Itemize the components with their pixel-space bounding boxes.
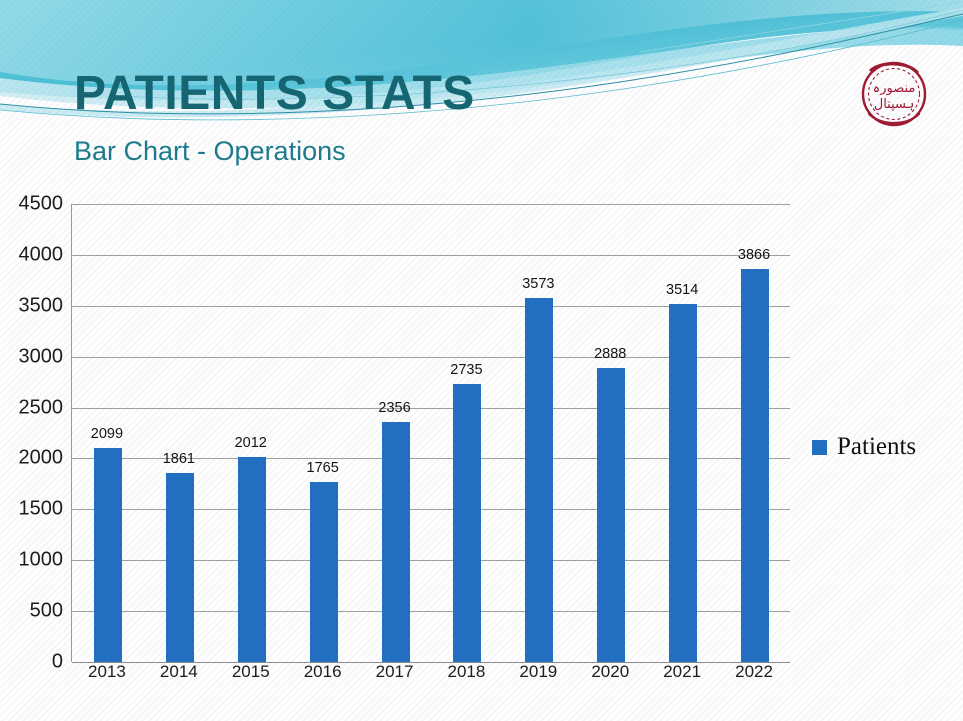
x-axis-tick-label-2016: 2016 [288,662,358,682]
y-axis-tick-label: 2500 [1,396,63,419]
bar-value-label-2020: 2888 [575,346,645,362]
bar-value-label-2015: 2012 [216,435,286,451]
y-axis-tick-label: 4000 [1,243,63,266]
x-axis-tick-label-2013: 2013 [72,662,142,682]
y-axis-tick-label: 0 [1,651,63,674]
y-axis-tick-label: 1000 [1,549,63,572]
logo-text-line2: ہسپتال [874,97,914,112]
bar-value-label-2014: 1861 [144,451,214,467]
y-axis: 050010001500200025003000350040004500 [0,204,63,662]
bar-2021[interactable] [669,304,697,662]
x-axis-tick-label-2021: 2021 [647,662,717,682]
bar-chart: 050010001500200025003000350040004500 Pat… [0,190,963,710]
x-axis-tick-label-2015: 2015 [216,662,286,682]
y-axis-tick-label: 3000 [1,345,63,368]
logo-text-line1: منصورہ [873,81,916,96]
chart-legend: Patients [812,433,916,461]
y-axis-tick-label: 2000 [1,447,63,470]
bar-value-label-2017: 2356 [360,400,430,416]
y-axis-tick-label: 1500 [1,498,63,521]
bar-2018[interactable] [453,384,481,662]
x-axis-tick-label-2014: 2014 [144,662,214,682]
legend-swatch-patients [812,440,827,455]
bar-value-label-2022: 3866 [719,247,789,263]
page-subtitle: Bar Chart - Operations [74,136,346,167]
y-axis-tick-label: 4500 [1,193,63,216]
plot-area [71,204,790,662]
bar-value-label-2016: 1765 [288,460,358,476]
x-axis-tick-label-2018: 2018 [431,662,501,682]
x-axis-tick-label-2020: 2020 [575,662,645,682]
bar-2022[interactable] [741,269,769,662]
bar-value-label-2013: 2099 [72,426,142,442]
bar-value-label-2018: 2735 [431,362,501,378]
bar-2017[interactable] [382,422,410,662]
y-axis-tick-label: 500 [1,600,63,623]
bar-value-label-2021: 3514 [647,282,717,298]
bar-2016[interactable] [310,482,338,662]
bar-2019[interactable] [525,298,553,662]
page-title: PATIENTS STATS [74,66,475,121]
bar-value-label-2019: 3573 [503,276,573,292]
bar-2020[interactable] [597,368,625,662]
slide: PATIENTS STATS Bar Chart - Operations من… [0,0,963,721]
bar-2013[interactable] [94,448,122,662]
x-axis-tick-label-2019: 2019 [503,662,573,682]
x-axis-tick-label-2022: 2022 [719,662,789,682]
legend-label-patients: Patients [837,433,916,461]
gridline [72,255,790,256]
mansoorah-hospital-logo-icon: منصورہ ہسپتال [849,56,935,136]
y-axis-tick-label: 3500 [1,294,63,317]
bar-2014[interactable] [166,473,194,662]
bar-2015[interactable] [238,457,266,662]
x-axis-tick-label-2017: 2017 [360,662,430,682]
gridline [72,204,790,205]
